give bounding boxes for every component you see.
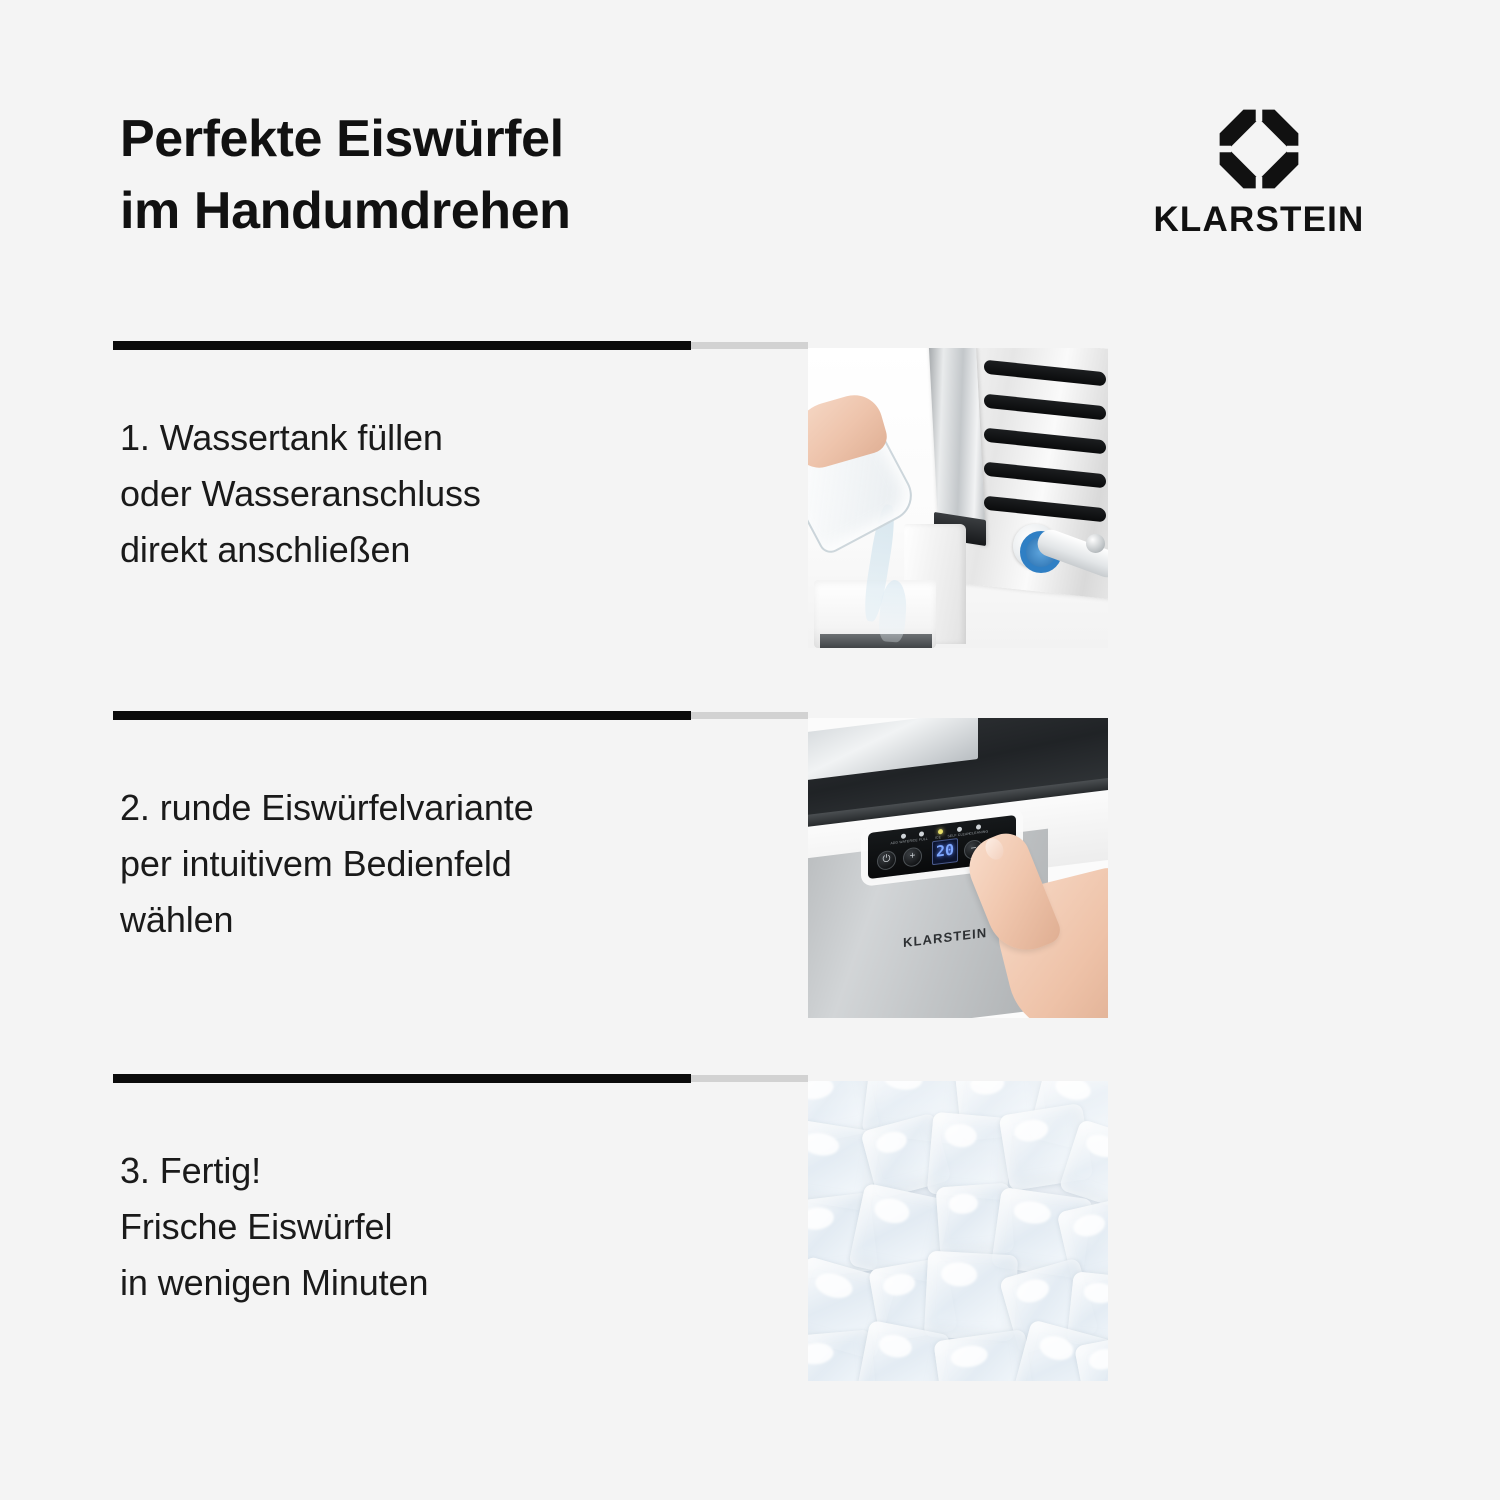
divider-dark-segment — [113, 711, 691, 720]
indicator-cleaning — [976, 824, 981, 830]
indicator-add-water — [901, 833, 906, 839]
indicator-ice — [938, 829, 943, 835]
step-text-2: 2. runde Eiswürfelvariante per intuitive… — [120, 780, 534, 947]
photo-fill-water-tank — [808, 348, 1108, 648]
photo-control-panel: ADD WATER ICE FULL ICE SELF CLEAN CLEANI… — [808, 718, 1108, 1018]
step-divider-3 — [113, 1074, 808, 1083]
divider-light-segment — [691, 712, 808, 719]
step-divider-2 — [113, 711, 808, 720]
step-text-1: 1. Wassertank füllen oder Wasseranschlus… — [120, 410, 481, 577]
power-button[interactable]: ⏻ — [877, 850, 896, 871]
basin-base — [820, 634, 932, 648]
screw-icon — [1086, 534, 1105, 553]
klarstein-octagon-diamond-icon — [1218, 108, 1300, 190]
divider-dark-segment — [113, 1074, 691, 1083]
indicator-label: CLEANING — [970, 829, 989, 836]
photo-ice-cubes — [808, 1081, 1108, 1381]
page-title: Perfekte Eiswürfel im Handumdrehen — [120, 104, 571, 248]
indicator-self-clean — [957, 827, 962, 833]
divider-light-segment — [691, 1075, 808, 1082]
brand-name: KLARSTEIN — [1118, 202, 1400, 237]
divider-dark-segment — [113, 341, 691, 350]
led-display: 20 — [932, 838, 958, 865]
plus-button[interactable]: + — [903, 846, 922, 867]
divider-light-segment — [691, 342, 808, 349]
step-divider-1 — [113, 341, 808, 350]
brand-logo: KLARSTEIN — [1118, 108, 1400, 237]
indicator-ice-full — [919, 831, 924, 837]
indicator-label: ICE FULL — [912, 837, 928, 843]
header: Perfekte Eiswürfel im Handumdrehen KLARS… — [0, 0, 1500, 300]
indicator-label: ADD WATER — [890, 839, 912, 846]
step-text-3: 3. Fertig! Frische Eiswürfel in wenigen … — [120, 1143, 428, 1310]
indicator-label: SELF CLEAN — [947, 831, 970, 838]
